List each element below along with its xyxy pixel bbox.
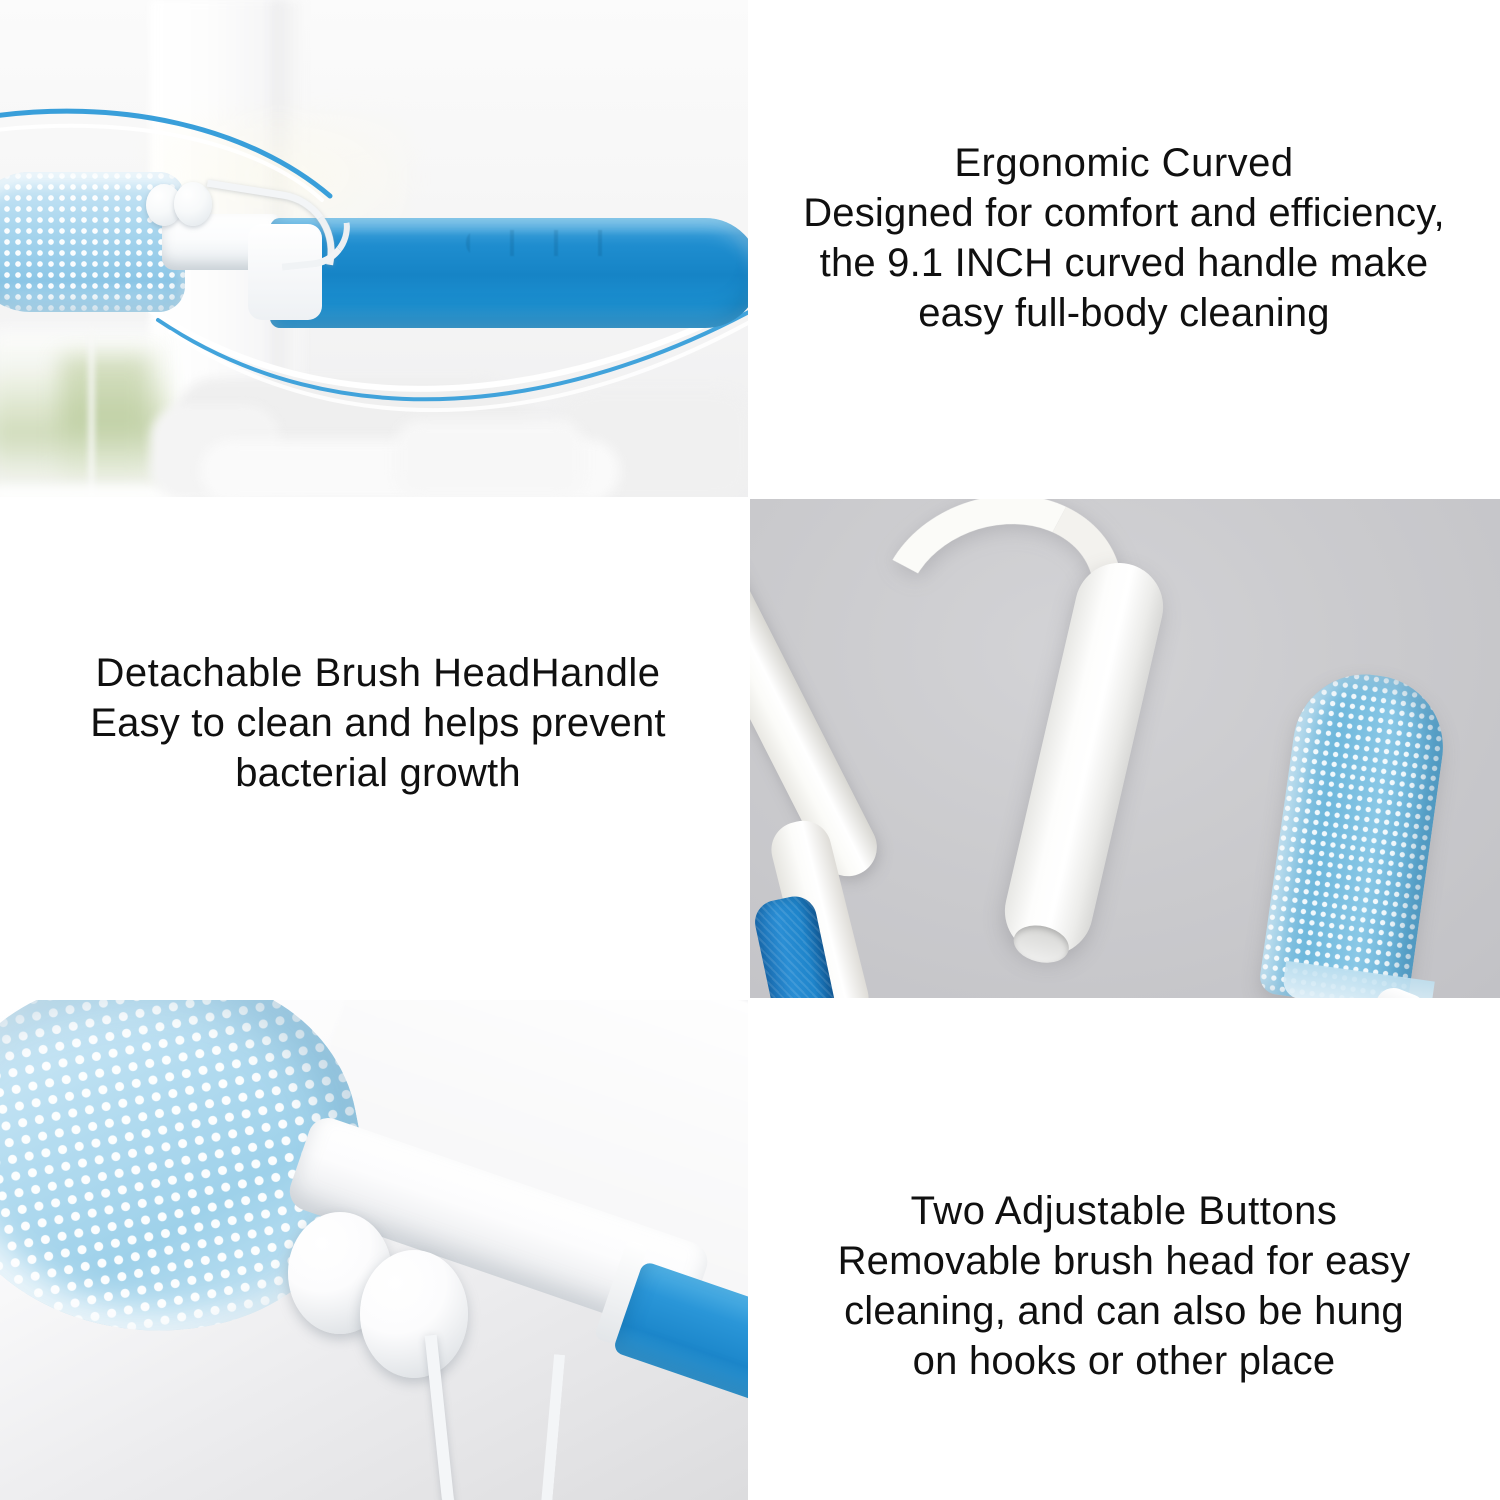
panel-two-adjustable-buttons: Two Adjustable Buttons Removable brush h… [752,1186,1496,1386]
heading-two-adjustable-buttons: Two Adjustable Buttons [752,1186,1496,1236]
body-line: bacterial growth [6,748,750,798]
photo-lifestyle-handle [0,0,748,497]
handle-grip-ridges [466,230,642,256]
heading-ergonomic-curved: Ergonomic Curved [752,138,1496,188]
body-two-adjustable-buttons: Removable brush head for easy cleaning, … [752,1236,1496,1386]
infographic-sheet: Ergonomic Curved Designed for comfort an… [0,0,1500,1500]
body-line: Removable brush head for easy [752,1236,1496,1286]
bath-brush-product [0,150,748,390]
body-line: on hooks or other place [752,1336,1496,1386]
body-detachable-brush-head: Easy to clean and helps prevent bacteria… [6,698,750,798]
body-line: easy full-body cleaning [752,288,1496,338]
body-line: Easy to clean and helps prevent [6,698,750,748]
body-ergonomic-curved: Designed for comfort and efficiency, the… [752,188,1496,338]
body-line: Designed for comfort and efficiency, [752,188,1496,238]
body-line: the 9.1 INCH curved handle make [752,238,1496,288]
panel-detachable-brush-head: Detachable Brush HeadHandle Easy to clea… [6,648,750,798]
photo-button-closeup [0,1000,748,1500]
curved-handle-part [780,519,1010,998]
body-line: cleaning, and can also be hung [752,1286,1496,1336]
heading-detachable-brush-head: Detachable Brush HeadHandle [6,648,750,698]
photo-exploded-parts [750,499,1500,998]
panel-ergonomic-curved: Ergonomic Curved Designed for comfort an… [752,138,1496,338]
